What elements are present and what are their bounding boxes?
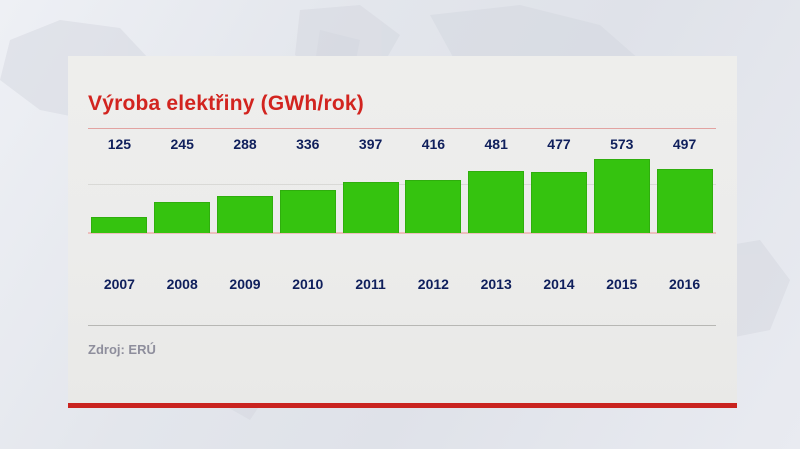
bar-rect — [405, 180, 461, 233]
x-axis-tick-label: 2009 — [214, 276, 277, 292]
bar-value-label: 245 — [151, 136, 214, 152]
bar-rect — [280, 190, 336, 233]
title-divider — [88, 128, 716, 129]
axis-divider — [88, 325, 716, 326]
bar-series: 125245288336397416481477573497 — [88, 156, 716, 233]
bar-column: 497 — [653, 156, 716, 233]
x-axis-labels: 2007200820092010201120122013201420152016 — [88, 276, 716, 292]
bar-column: 125 — [88, 156, 151, 233]
bar-column: 245 — [151, 156, 214, 233]
bar-rect — [343, 182, 399, 233]
bar-rect — [657, 169, 713, 233]
bar-rect — [91, 217, 147, 233]
bar-value-label: 477 — [528, 136, 591, 152]
x-axis-tick-label: 2008 — [151, 276, 214, 292]
bar-column: 397 — [339, 156, 402, 233]
bar-value-label: 497 — [653, 136, 716, 152]
bar-rect — [217, 196, 273, 233]
bar-column: 477 — [528, 156, 591, 233]
x-axis-tick-label: 2013 — [465, 276, 528, 292]
bar-column: 481 — [465, 156, 528, 233]
x-axis-tick-label: 2016 — [653, 276, 716, 292]
bar-rect — [531, 172, 587, 233]
x-axis-tick-label: 2011 — [339, 276, 402, 292]
x-axis-tick-label: 2014 — [528, 276, 591, 292]
bar-column: 573 — [590, 156, 653, 233]
bar-value-label: 288 — [214, 136, 277, 152]
bar-rect — [154, 202, 210, 233]
chart-card: Výroba elektřiny (GWh/rok) 1252452883363… — [68, 56, 737, 405]
bar-rect — [468, 171, 524, 233]
bar-column: 336 — [276, 156, 339, 233]
bar-value-label: 573 — [590, 136, 653, 152]
x-axis-tick-label: 2007 — [88, 276, 151, 292]
x-axis-tick-label: 2010 — [276, 276, 339, 292]
page-title: Výroba elektřiny (GWh/rok) — [88, 92, 364, 116]
source-note: Zdroj: ERÚ — [88, 342, 156, 357]
bar-value-label: 125 — [88, 136, 151, 152]
bar-column: 288 — [214, 156, 277, 233]
bar-value-label: 481 — [465, 136, 528, 152]
card-bottom-accent-bar — [68, 403, 737, 408]
bar-value-label: 397 — [339, 136, 402, 152]
bar-value-label: 416 — [402, 136, 465, 152]
x-axis-tick-label: 2012 — [402, 276, 465, 292]
bar-rect — [594, 159, 650, 233]
bar-column: 416 — [402, 156, 465, 233]
bar-value-label: 336 — [276, 136, 339, 152]
x-axis-tick-label: 2015 — [590, 276, 653, 292]
